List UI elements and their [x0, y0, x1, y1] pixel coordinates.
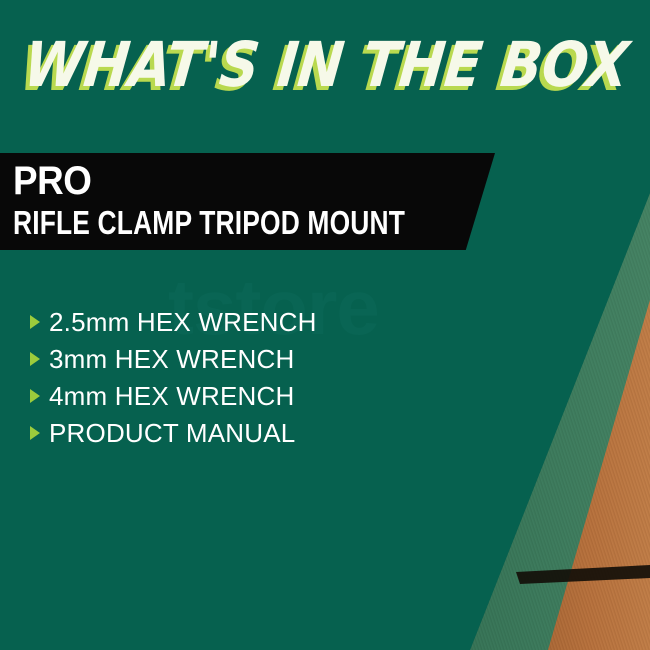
- list-item-label: 4mm HEX WRENCH: [49, 382, 294, 410]
- list-item: PRODUCT MANUAL: [30, 414, 317, 451]
- triangle-right-icon: [30, 389, 40, 403]
- triangle-right-icon: [30, 352, 40, 366]
- list-item-label: 2.5mm HEX WRENCH: [49, 308, 317, 336]
- list-item: 2.5mm HEX WRENCH: [30, 303, 317, 340]
- list-item-label: 3mm HEX WRENCH: [49, 345, 294, 373]
- list-item-label: PRODUCT MANUAL: [49, 419, 295, 447]
- page-title-text: WHAT'S IN THE BOX: [21, 28, 635, 101]
- banner-eyebrow: PRO: [13, 161, 91, 201]
- wood-planks-group: [461, 190, 650, 650]
- list-item: 3mm HEX WRENCH: [30, 340, 317, 377]
- page-title: WHAT'S IN THE BOX WHAT'S IN THE BOX: [22, 30, 632, 110]
- triangle-right-icon: [30, 426, 40, 440]
- triangle-right-icon: [30, 315, 40, 329]
- product-banner: PRO RIFLE CLAMP TRIPOD MOUNT: [0, 153, 495, 250]
- whats-in-the-box-poster: tstore WHAT'S IN THE BOX WHAT'S IN THE B…: [0, 0, 650, 650]
- list-item: 4mm HEX WRENCH: [30, 377, 317, 414]
- box-contents-list: 2.5mm HEX WRENCH 3mm HEX WRENCH 4mm HEX …: [30, 303, 317, 451]
- banner-product-name: RIFLE CLAMP TRIPOD MOUNT: [13, 205, 405, 240]
